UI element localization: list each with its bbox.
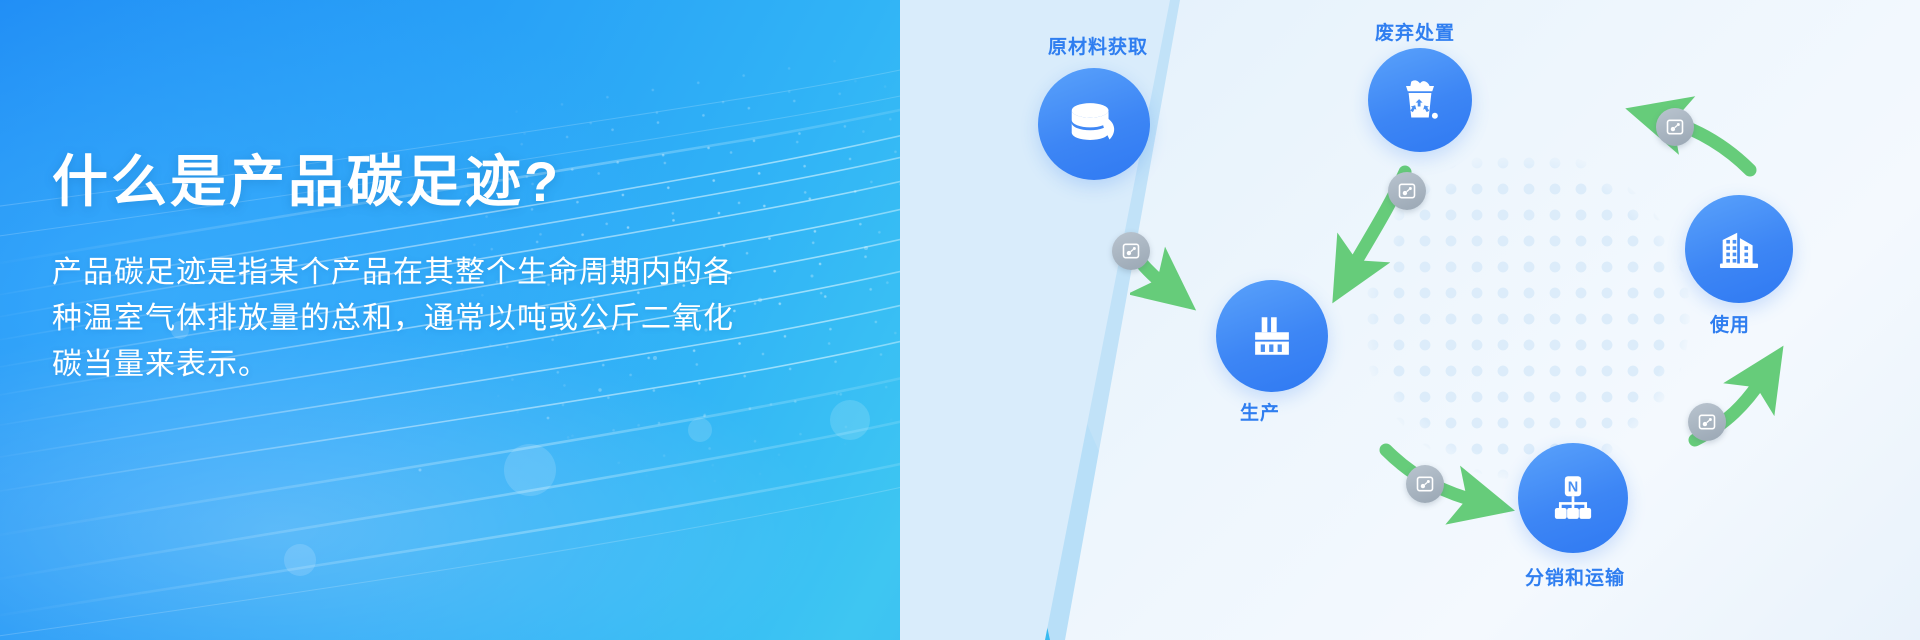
badge-distribution-to-use[interactable] — [1688, 403, 1726, 441]
node-label-use: 使用 — [1710, 310, 1750, 337]
node-raw-material[interactable] — [1038, 68, 1150, 180]
page-description: 产品碳足迹是指某个产品在其整个生命周期内的各种温室气体排放量的总和，通常以吨或公… — [52, 250, 752, 387]
data-node-icon — [1665, 117, 1685, 137]
data-node-icon — [1415, 474, 1435, 494]
badge-waste-to-production[interactable] — [1388, 172, 1426, 210]
database-icon — [1063, 93, 1125, 155]
distribution-node-icon: N — [1544, 469, 1602, 527]
buildings-icon — [1710, 220, 1768, 278]
data-node-icon — [1121, 241, 1141, 261]
node-label-raw-material: 原材料获取 — [1048, 32, 1148, 59]
badge-production-to-distribution[interactable] — [1406, 465, 1444, 503]
node-production[interactable] — [1216, 280, 1328, 392]
recycle-bin-icon — [1392, 72, 1448, 128]
text-block: 什么是产品碳足迹? 产品碳足迹是指某个产品在其整个生命周期内的各种温室气体排放量… — [52, 150, 772, 387]
node-label-waste: 废弃处置 — [1375, 18, 1455, 45]
node-label-production: 生产 — [1240, 398, 1280, 425]
carbon-footprint-banner: 什么是产品碳足迹? 产品碳足迹是指某个产品在其整个生命周期内的各种温室气体排放量… — [0, 0, 1920, 640]
node-distribution[interactable]: N — [1518, 443, 1628, 553]
factory-icon — [1242, 306, 1302, 366]
node-label-distribution: 分销和运输 — [1525, 563, 1625, 590]
node-waste[interactable] — [1368, 48, 1472, 152]
node-use[interactable] — [1685, 195, 1793, 303]
badge-use-to-waste[interactable] — [1656, 108, 1694, 146]
page-title: 什么是产品碳足迹? — [52, 150, 772, 214]
badge-raw-to-production[interactable] — [1112, 232, 1150, 270]
data-node-icon — [1697, 412, 1717, 432]
data-node-icon — [1397, 181, 1417, 201]
lifecycle-diagram: 原材料获取 废弃处置 — [1130, 0, 1920, 640]
svg-text:N: N — [1568, 480, 1578, 496]
